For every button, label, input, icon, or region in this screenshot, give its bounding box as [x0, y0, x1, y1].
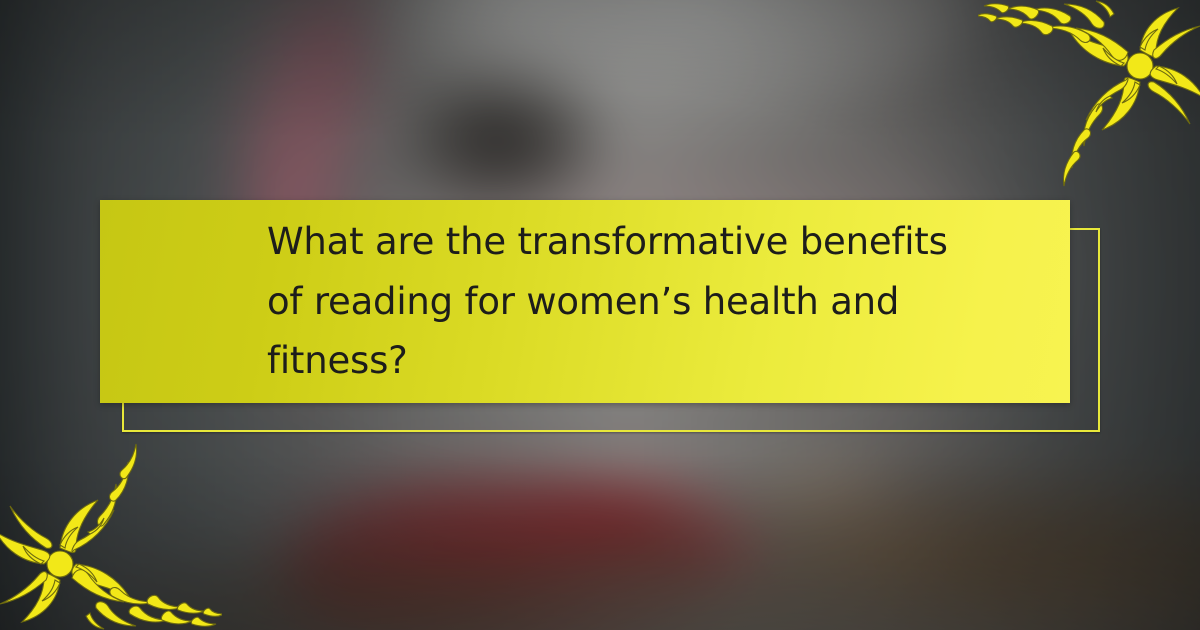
bottom-left-floral-ornament	[0, 440, 222, 630]
page-title: What are the transformative benefits of …	[267, 212, 967, 392]
top-right-floral-ornament	[978, 0, 1200, 190]
headline-panel: What are the transformative benefits of …	[100, 200, 1070, 403]
social-share-card: What are the transformative benefits of …	[0, 0, 1200, 630]
